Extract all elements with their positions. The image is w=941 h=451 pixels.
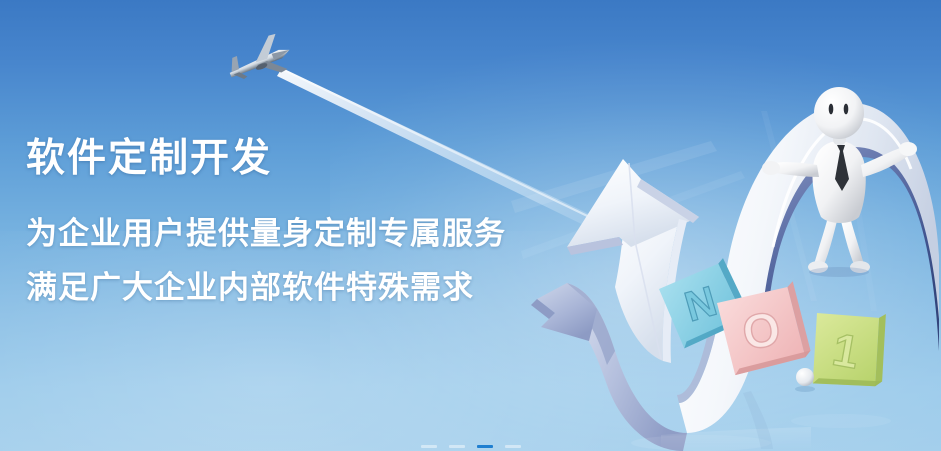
- subtitle-line-2: 满足广大企业内部软件特殊需求: [26, 272, 546, 303]
- carousel-indicators[interactable]: [0, 445, 941, 448]
- page-title: 软件定制开发: [26, 138, 546, 180]
- letter-blocks: N O 1: [656, 255, 894, 395]
- floor-reflections: [631, 391, 891, 451]
- svg-text:O: O: [739, 303, 783, 361]
- carousel-dot-4[interactable]: [505, 445, 521, 448]
- block-1: 1: [805, 302, 894, 395]
- carousel-dot-3[interactable]: [477, 445, 493, 448]
- carousel-dot-2[interactable]: [449, 445, 465, 448]
- hero-banner: 软件定制开发 为企业用户提供量身定制专属服务 满足广大企业内部软件特殊需求: [0, 0, 941, 451]
- artwork-illustration: N O 1: [511, 51, 941, 451]
- wave-ribbon-arrow: [531, 103, 939, 451]
- carousel-dot-1[interactable]: [421, 445, 437, 448]
- banner-copy: 软件定制开发 为企业用户提供量身定制专属服务 满足广大企业内部软件特殊需求: [26, 138, 546, 303]
- subtitle-line-1: 为企业用户提供量身定制专属服务: [26, 218, 546, 249]
- small-white-sphere: [795, 368, 815, 392]
- airplane-icon: [222, 30, 296, 90]
